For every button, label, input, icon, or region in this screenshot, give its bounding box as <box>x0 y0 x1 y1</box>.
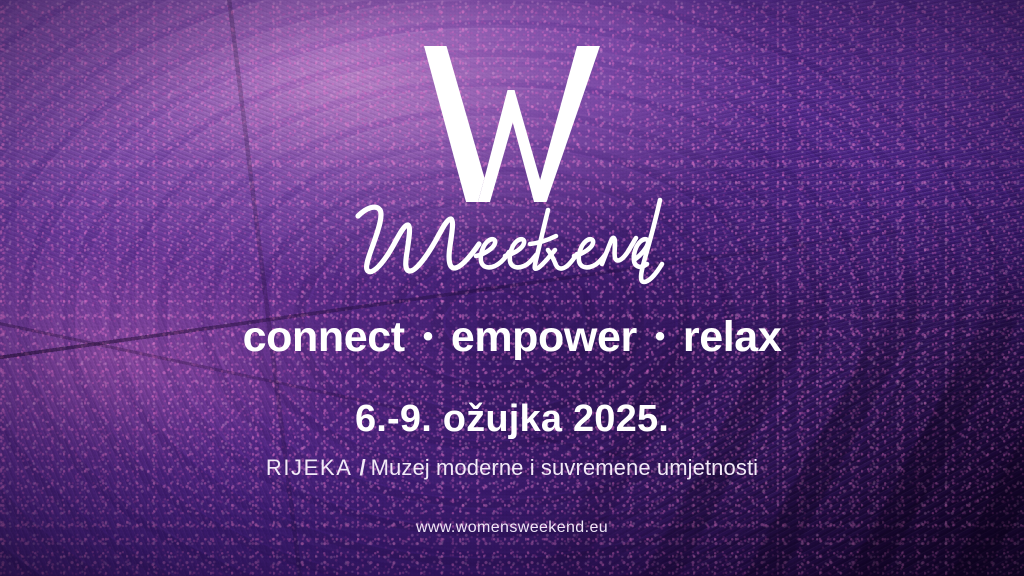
weekend-script-wordmark <box>352 198 672 290</box>
tagline-item-relax: relax <box>683 313 781 361</box>
venue-place: Muzej moderne i suvremene umjetnosti <box>371 455 759 480</box>
poster-content: connect•empower•relax 6.-9. ožujka 2025.… <box>0 0 1024 576</box>
venue-city: RIJEKA <box>266 455 353 480</box>
event-venue: RIJEKA/Muzej moderne i suvremene umjetno… <box>0 455 1024 481</box>
event-poster: connect•empower•relax 6.-9. ožujka 2025.… <box>0 0 1024 576</box>
event-date: 6.-9. ožujka 2025. <box>0 399 1024 441</box>
w-monogram-icon <box>422 46 602 208</box>
tagline: connect•empower•relax <box>0 315 1024 360</box>
venue-separator: / <box>359 455 365 480</box>
tagline-item-connect: connect <box>243 313 405 361</box>
tagline-separator-2: • <box>655 321 665 353</box>
tagline-separator-1: • <box>423 321 433 353</box>
website-url[interactable]: www.womensweekend.eu <box>0 518 1024 537</box>
tagline-item-empower: empower <box>451 313 637 361</box>
